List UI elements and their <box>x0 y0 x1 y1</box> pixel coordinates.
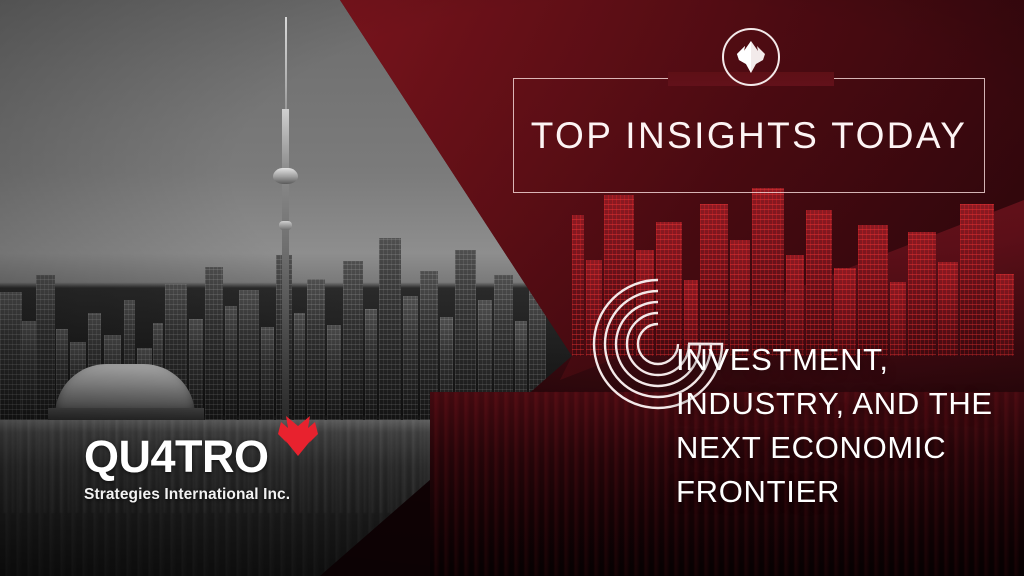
cn-tower-upper-pod <box>279 221 292 230</box>
headline-line-4: FRONTIER <box>676 470 1006 514</box>
headline-line-2: INDUSTRY, AND THE <box>676 382 1006 426</box>
cn-tower <box>282 109 289 420</box>
brand-logo[interactable]: QU4TRO Strategies International Inc. <box>84 434 314 512</box>
banner-canvas: TOP INSIGHTS TODAY INVESTMENT, INDUSTRY,… <box>0 0 1024 576</box>
maple-leaf-crest-icon <box>722 28 780 86</box>
eyebrow-title: TOP INSIGHTS TODAY <box>513 78 985 193</box>
headline: INVESTMENT, INDUSTRY, AND THE NEXT ECONO… <box>676 338 1006 514</box>
maple-leaf-icon <box>277 410 319 456</box>
cn-tower-pod <box>273 168 298 184</box>
cn-tower-spire <box>285 17 287 109</box>
headline-line-3: NEXT ECONOMIC <box>676 426 1006 470</box>
headline-line-1: INVESTMENT, <box>676 338 1006 382</box>
logo-tagline: Strategies International Inc. <box>84 486 314 504</box>
